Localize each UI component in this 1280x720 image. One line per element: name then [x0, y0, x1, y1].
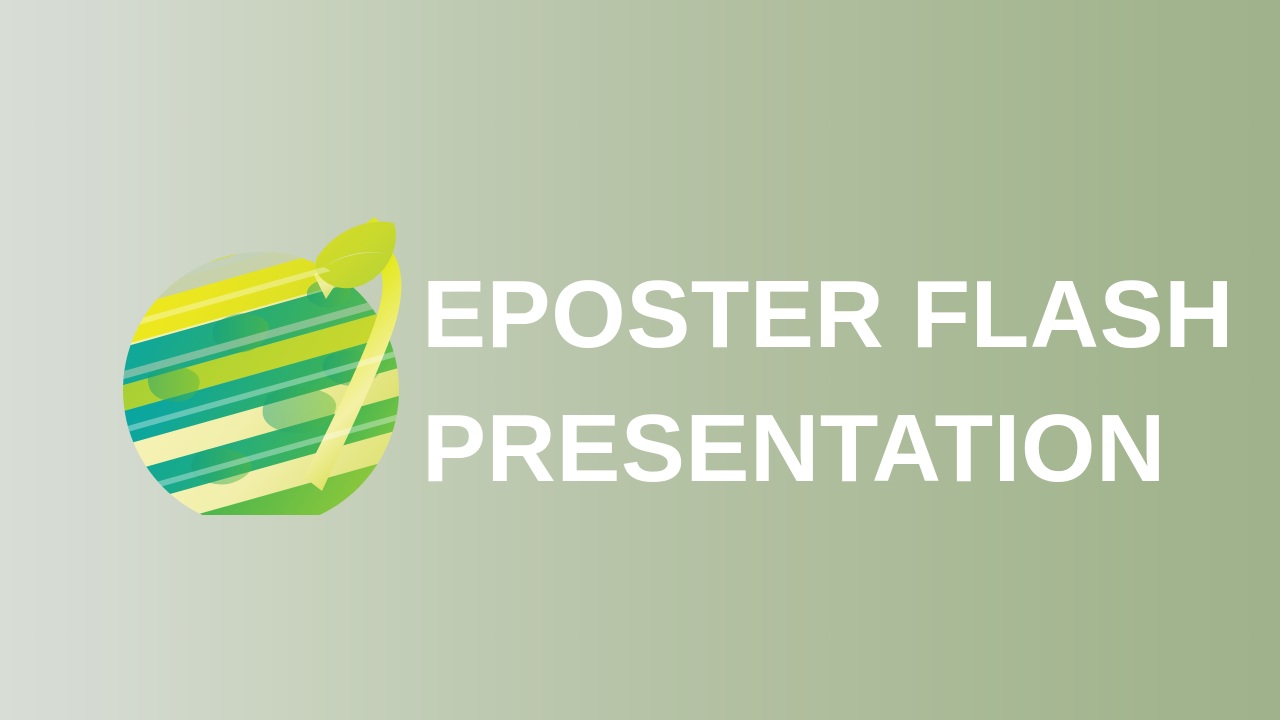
globe-ribbon-leaf-logo: [118, 205, 404, 515]
title-line-2: PRESENTATION: [422, 382, 1222, 516]
slide-title: EPOSTER FLASH PRESENTATION: [422, 248, 1222, 516]
title-line-1: EPOSTER FLASH: [422, 248, 1222, 382]
slide-canvas: EPOSTER FLASH PRESENTATION: [0, 0, 1280, 720]
